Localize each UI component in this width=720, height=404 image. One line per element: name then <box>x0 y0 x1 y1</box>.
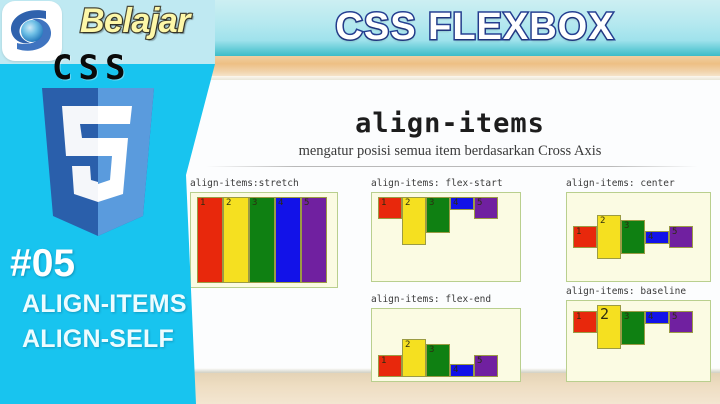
flex-item: 5 <box>669 311 693 333</box>
tech-word: CSS <box>52 48 131 88</box>
demo-flex-end: align-items: flex-end12345 <box>371 294 521 382</box>
flex-item: 4 <box>450 364 474 377</box>
flex-item: 5 <box>474 355 498 377</box>
flex-item: 5 <box>669 226 693 248</box>
demo-label-stretch: align-items:stretch <box>190 178 338 189</box>
slide-stage: CSS FLEXBOX align-items mengatur posisi … <box>0 0 720 404</box>
flex-container-flex-end: 12345 <box>371 308 521 382</box>
flex-item: 2 <box>597 215 621 259</box>
title-divider <box>206 166 698 167</box>
episode-number: #05 <box>10 242 75 286</box>
flex-item: 1 <box>573 311 597 333</box>
flex-item: 1 <box>378 355 402 377</box>
flex-container-center: 12345 <box>566 192 711 282</box>
flex-item: 3 <box>426 344 450 377</box>
flex-item: 4 <box>450 197 474 210</box>
demo-flex-start: align-items: flex-start12345 <box>371 178 521 282</box>
flex-item: 2 <box>402 197 426 245</box>
demo-label-center: align-items: center <box>566 178 711 189</box>
demo-baseline: align-items: baseline12345 <box>566 286 711 382</box>
flex-container-baseline: 12345 <box>566 300 711 382</box>
flex-item: 2 <box>597 305 621 349</box>
demo-label-flex-end: align-items: flex-end <box>371 294 521 305</box>
flex-item: 3 <box>249 197 275 283</box>
demo-label-flex-start: align-items: flex-start <box>371 178 521 189</box>
flex-item: 1 <box>197 197 223 283</box>
flex-item: 3 <box>621 311 645 345</box>
flex-container-flex-start: 12345 <box>371 192 521 282</box>
brand-word: Belajar <box>80 2 190 41</box>
page-title: align-items <box>200 108 700 139</box>
flex-item: 5 <box>301 197 327 283</box>
flex-container-stretch: 12345 <box>190 192 338 288</box>
flex-item: 1 <box>378 197 402 219</box>
flex-item: 1 <box>573 226 597 248</box>
flex-item: 3 <box>426 197 450 233</box>
demo-center: align-items: center12345 <box>566 178 711 282</box>
flex-item: 3 <box>621 220 645 254</box>
flex-item: 2 <box>223 197 249 283</box>
demo-label-baseline: align-items: baseline <box>566 286 711 297</box>
topic-line-2: ALIGN-SELF <box>22 325 174 354</box>
flex-item: 4 <box>645 311 669 324</box>
css3-shield-icon <box>36 88 160 240</box>
demo-stretch: align-items:stretch12345 <box>190 178 338 288</box>
flex-item: 5 <box>474 197 498 219</box>
topic-line-1: ALIGN-ITEMS <box>22 290 187 319</box>
flex-item: 4 <box>645 231 669 244</box>
video-title-watermark: CSS FLEXBOX <box>240 2 710 52</box>
flex-item: 2 <box>402 339 426 377</box>
page-subtitle: mengatur posisi semua item berdasarkan C… <box>200 143 700 160</box>
flex-item: 4 <box>275 197 301 283</box>
